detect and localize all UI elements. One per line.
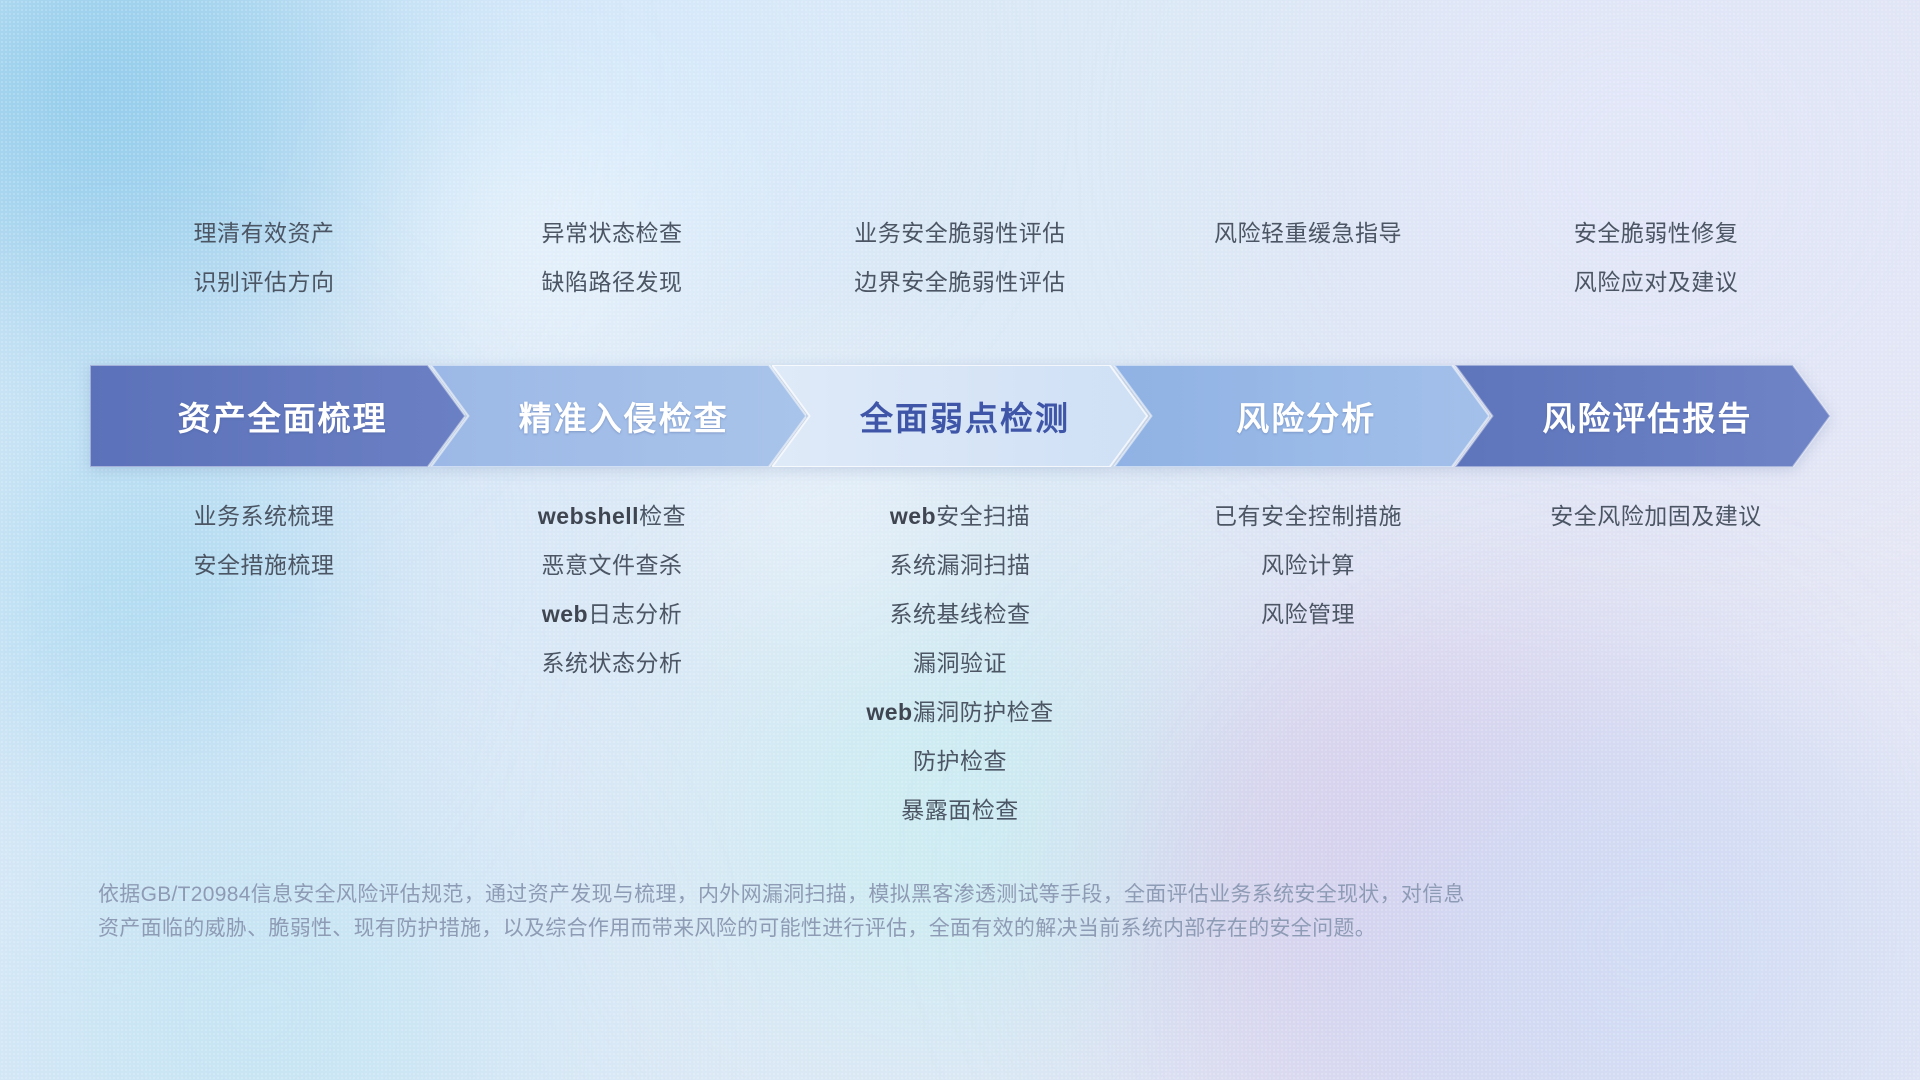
detail-text: 业务安全脆弱性评估 bbox=[854, 222, 1066, 245]
footer-line-2: 资产面临的威胁、脆弱性、现有防护措施，以及综合作用而带来风险的可能性进行评估，全… bbox=[98, 912, 1598, 946]
stage-label: 风险评估报告 bbox=[1532, 392, 1752, 440]
bottom-details-stage-3: web安全扫描 系统漏洞扫描 系统基线检查 漏洞验证 web漏洞防护检查 防护检… bbox=[786, 505, 1134, 848]
top-details-stage-2: 异常状态检查 缺陷路径发现 bbox=[438, 222, 786, 332]
detail-text: 安全风险加固及建议 bbox=[1550, 505, 1762, 554]
detail-text: web安全扫描 bbox=[890, 505, 1030, 554]
detail-text: 暴露面检查 bbox=[901, 799, 1019, 848]
bottom-details-stage-1: 业务系统梳理 安全措施梳理 bbox=[90, 505, 438, 603]
stage-chevron-4[interactable]: 风险分析 bbox=[1114, 365, 1489, 467]
detail-text: 系统状态分析 bbox=[542, 652, 683, 701]
detail-text: 已有安全控制措施 bbox=[1214, 505, 1402, 554]
top-details-stage-1: 理清有效资产 识别评估方向 bbox=[90, 222, 438, 332]
detail-text: 防护检查 bbox=[913, 750, 1007, 799]
detail-text: webshell检查 bbox=[538, 505, 686, 554]
top-details-stage-4: 风险轻重缓急指导 bbox=[1134, 222, 1482, 332]
bottom-details-stage-5: 安全风险加固及建议 bbox=[1482, 505, 1830, 554]
top-details-stage-3: 业务安全脆弱性评估 边界安全脆弱性评估 bbox=[786, 222, 1134, 332]
stage-label: 风险分析 bbox=[1226, 392, 1376, 440]
stage-chevron-5[interactable]: 风险评估报告 bbox=[1455, 365, 1830, 467]
detail-text: 风险应对及建议 bbox=[1574, 271, 1739, 294]
detail-text: 识别评估方向 bbox=[194, 271, 335, 294]
detail-text: 恶意文件查杀 bbox=[542, 554, 683, 603]
detail-text: 异常状态检查 bbox=[542, 222, 683, 245]
detail-text: 安全脆弱性修复 bbox=[1574, 222, 1739, 245]
detail-text: 缺陷路径发现 bbox=[542, 271, 683, 294]
detail-text: 漏洞验证 bbox=[913, 652, 1007, 701]
detail-text: 业务系统梳理 bbox=[194, 505, 335, 554]
detail-suffix: 检查 bbox=[639, 503, 686, 529]
stage-label: 资产全面梳理 bbox=[168, 392, 388, 440]
detail-text: 风险计算 bbox=[1261, 554, 1355, 603]
detail-text: 理清有效资产 bbox=[194, 222, 335, 245]
bottom-detail-row: 业务系统梳理 安全措施梳理 webshell检查 恶意文件查杀 web日志分析 … bbox=[90, 505, 1830, 848]
detail-text: 边界安全脆弱性评估 bbox=[854, 271, 1066, 294]
process-diagram: 理清有效资产 识别评估方向 异常状态检查 缺陷路径发现 业务安全脆弱性评估 边界… bbox=[0, 0, 1920, 1080]
detail-suffix: 漏洞防护检查 bbox=[913, 699, 1054, 725]
stage-chevron-2[interactable]: 精准入侵检查 bbox=[431, 365, 806, 467]
footer-description: 依据GB/T20984信息安全风险评估规范，通过资产发现与梳理，内外网漏洞扫描，… bbox=[98, 878, 1598, 946]
detail-text: 系统漏洞扫描 bbox=[890, 554, 1031, 603]
detail-suffix: 安全扫描 bbox=[936, 503, 1030, 529]
footer-line-1: 依据GB/T20984信息安全风险评估规范，通过资产发现与梳理，内外网漏洞扫描，… bbox=[98, 878, 1598, 912]
top-details-stage-5: 安全脆弱性修复 风险应对及建议 bbox=[1482, 222, 1830, 332]
detail-text: 风险管理 bbox=[1261, 603, 1355, 652]
process-chevron-band: 资产全面梳理 精准入侵检查 bbox=[90, 365, 1830, 467]
bottom-details-stage-4: 已有安全控制措施 风险计算 风险管理 bbox=[1134, 505, 1482, 652]
detail-text: 安全措施梳理 bbox=[194, 554, 335, 603]
stage-chevron-3[interactable]: 全面弱点检测 bbox=[772, 365, 1147, 467]
bottom-details-stage-2: webshell检查 恶意文件查杀 web日志分析 系统状态分析 bbox=[438, 505, 786, 701]
detail-text: web日志分析 bbox=[542, 603, 682, 652]
detail-text: 系统基线检查 bbox=[890, 603, 1031, 652]
stage-chevron-1[interactable]: 资产全面梳理 bbox=[90, 365, 465, 467]
top-detail-row: 理清有效资产 识别评估方向 异常状态检查 缺陷路径发现 业务安全脆弱性评估 边界… bbox=[90, 222, 1830, 332]
stage-label: 全面弱点检测 bbox=[850, 392, 1070, 440]
stage-label: 精准入侵检查 bbox=[509, 392, 729, 440]
detail-suffix: 日志分析 bbox=[588, 601, 682, 627]
detail-text: web漏洞防护检查 bbox=[866, 701, 1053, 750]
detail-text: 风险轻重缓急指导 bbox=[1214, 222, 1402, 245]
